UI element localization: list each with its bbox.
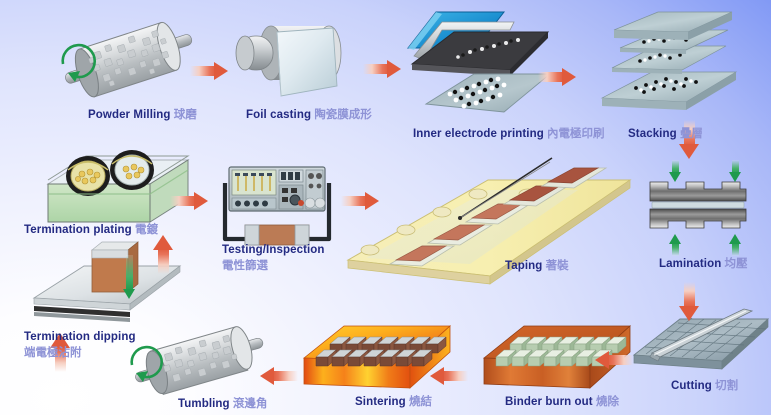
arrow-binder-to-sintering [428,367,468,385]
process-flow-diagram: Powder Milling 球磨 Foil casting 陶瓷膜成形 Inn… [0,0,771,415]
label-testing-inspection-en: Testing/Inspection [222,243,325,258]
label-stacking-en: Stacking [628,128,677,140]
label-tumbling-en: Tumbling [178,398,230,410]
label-powder-milling-cn: 球磨 [174,107,197,121]
lamination-green-arrow-down-right [729,160,742,184]
arrow-foil-to-printing [363,60,403,78]
lamination-green-arrow-down-left [669,160,682,184]
termination-dipping-green-arrow [123,255,136,303]
label-taping: Taping 著裝 [505,258,569,273]
label-inner-electrode-printing-cn: 內電極印刷 [547,126,605,140]
arrow-plating-to-testing [170,192,210,210]
label-termination-plating-en: Termination plating [24,224,132,236]
lamination-green-arrow-up-left [669,232,682,256]
label-inner-electrode-printing: Inner electrode printing 內電極印刷 [413,126,605,141]
label-cutting-en: Cutting [671,380,712,392]
label-foil-casting-en: Foil casting [246,109,311,121]
arrow-printing-to-stacking [538,68,578,86]
arrow-lamination-to-cutting [679,282,700,324]
arrow-dipping-to-plating [153,232,174,274]
label-binder-burn-out-en: Binder burn out [505,396,593,408]
label-inner-electrode-printing-en: Inner electrode printing [413,128,544,140]
label-lamination: Lamination 均壓 [659,256,748,271]
termination-plating-illustration [42,150,194,230]
label-foil-casting-cn: 陶瓷膜成形 [314,107,372,121]
label-termination-dipping-cn: 端電極沾附 [24,345,136,360]
arrow-sintering-to-tumbling [258,367,298,385]
label-sintering-en: Sintering [355,396,406,408]
label-foil-casting: Foil casting 陶瓷膜成形 [246,107,372,122]
label-stacking: Stacking 疊層 [628,126,703,141]
label-tumbling: Tumbling 滾邊角 [178,396,267,411]
label-cutting: Cutting 切割 [671,378,738,393]
label-tumbling-cn: 滾邊角 [233,396,268,410]
label-taping-cn: 著裝 [546,258,569,272]
arrow-powder-to-foil [190,62,230,80]
label-sintering: Sintering 燒結 [355,394,432,409]
label-taping-en: Taping [505,260,542,272]
label-termination-dipping: Termination dipping 端電極沾附 [24,330,136,360]
powder-milling-illustration [55,20,205,100]
label-binder-burn-out-cn: 燒除 [596,394,619,408]
stacking-illustration [594,14,744,124]
cutting-illustration [632,305,771,385]
label-termination-dipping-en: Termination dipping [24,330,136,345]
label-sintering-cn: 燒結 [409,394,432,408]
lamination-illustration [638,178,758,240]
label-testing-inspection-cn: 電性篩選 [222,258,325,273]
label-powder-milling: Powder Milling 球磨 [88,107,197,122]
label-termination-plating: Termination plating 電鍍 [24,222,158,237]
label-cutting-cn: 切割 [715,378,738,392]
inner-electrode-printing-illustration [398,8,558,120]
label-lamination-cn: 均壓 [725,256,748,270]
taping-illustration [338,168,638,288]
arrow-testing-to-taping [341,192,381,210]
label-stacking-cn: 疊層 [680,126,703,140]
label-termination-plating-cn: 電鍍 [135,222,158,236]
lamination-green-arrow-up-right [729,232,742,256]
label-binder-burn-out: Binder burn out 燒除 [505,394,619,409]
tumbling-illustration [120,325,280,400]
label-testing-inspection: Testing/Inspection 電性篩選 [222,243,325,273]
label-powder-milling-en: Powder Milling [88,109,171,121]
arrow-cutting-to-binder [593,351,633,369]
label-lamination-en: Lamination [659,258,721,270]
foil-casting-illustration [225,18,355,104]
